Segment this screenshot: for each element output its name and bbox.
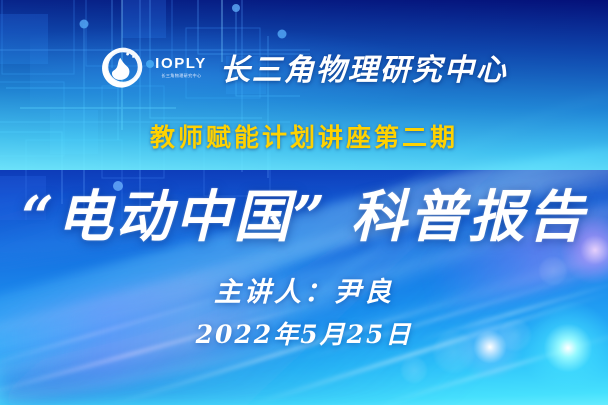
logo-wordmark-block: IOPLY 长三角物理研究中心 <box>155 56 207 78</box>
poster-content: IOPLY 长三角物理研究中心 长三角物理研究中心 教师赋能计划讲座第二期 “电… <box>0 0 608 405</box>
organization-name: 长三角物理研究中心 <box>220 45 508 89</box>
ioply-crescent-logo-icon <box>100 44 146 90</box>
page-title: “电动中国” 科普报告 <box>0 172 608 253</box>
event-date: 2022年5月25日 <box>0 315 608 351</box>
brand-header: IOPLY 长三角物理研究中心 长三角物理研究中心 <box>0 44 608 90</box>
logo-subtext: 长三角物理研究中心 <box>161 74 201 78</box>
speaker-line: 主讲人：尹良 <box>0 270 608 309</box>
logo-wordmark: IOPLY <box>155 56 207 71</box>
lecture-series-subtitle: 教师赋能计划讲座第二期 <box>0 118 608 154</box>
event-poster: IOPLY 长三角物理研究中心 长三角物理研究中心 教师赋能计划讲座第二期 “电… <box>0 0 608 405</box>
